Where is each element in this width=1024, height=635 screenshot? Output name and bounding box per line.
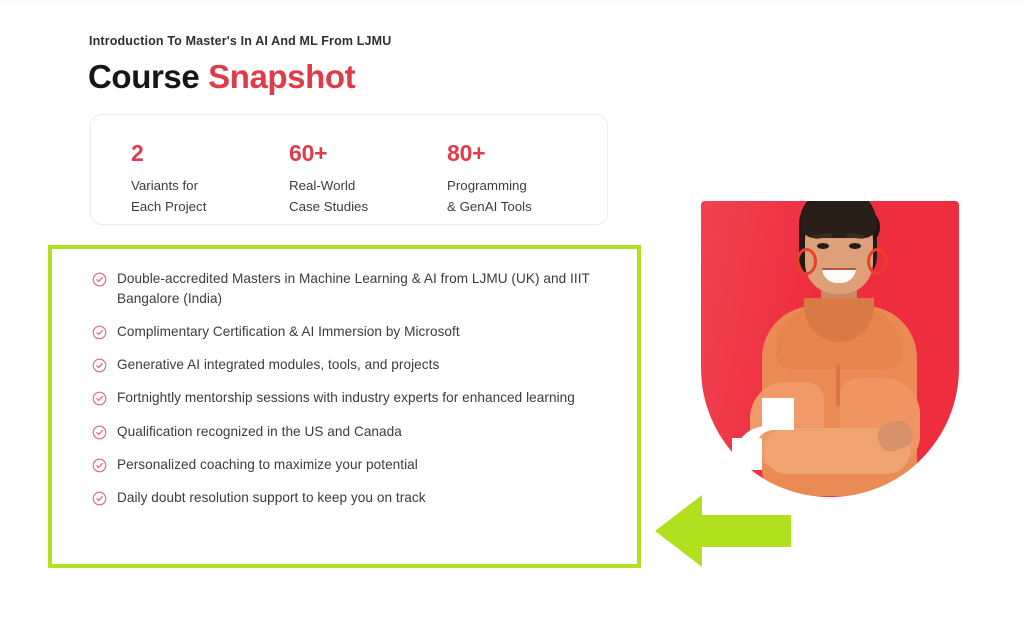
course-snapshot-page: Introduction To Master's In AI And ML Fr… <box>0 0 1024 635</box>
list-item: Fortnightly mentorship sessions with ind… <box>92 388 612 408</box>
stat-item: 2 Variants for Each Project <box>91 141 249 217</box>
list-item-label: Daily doubt resolution support to keep y… <box>117 488 426 508</box>
list-item: Double-accredited Masters in Machine Lea… <box>92 269 612 309</box>
stat-label: Programming & GenAI Tools <box>447 175 597 217</box>
list-item: Qualification recognized in the US and C… <box>92 422 612 442</box>
check-circle-icon <box>92 358 107 373</box>
list-item-label: Fortnightly mentorship sessions with ind… <box>117 388 575 408</box>
check-circle-icon <box>92 425 107 440</box>
list-item-label: Double-accredited Masters in Machine Lea… <box>117 269 612 309</box>
list-item: Generative AI integrated modules, tools,… <box>92 355 612 375</box>
stat-label: Real-World Case Studies <box>289 175 407 217</box>
list-item-label: Generative AI integrated modules, tools,… <box>117 355 439 375</box>
section-eyebrow: Introduction To Master's In AI And ML Fr… <box>89 34 391 48</box>
page-title-accent: Snapshot <box>208 58 355 95</box>
list-item-label: Personalized coaching to maximize your p… <box>117 455 418 475</box>
list-item: Daily doubt resolution support to keep y… <box>92 488 612 508</box>
earring-right <box>867 248 888 275</box>
check-circle-icon <box>92 491 107 506</box>
stat-item: 80+ Programming & GenAI Tools <box>407 141 597 217</box>
eye-right <box>849 243 861 249</box>
page-title-primary: Course <box>88 58 199 95</box>
stat-value: 60+ <box>289 141 407 166</box>
hair-front <box>801 201 877 238</box>
green-left-arrow <box>655 492 791 570</box>
list-item-label: Complimentary Certification & AI Immersi… <box>117 322 460 342</box>
list-item-label: Qualification recognized in the US and C… <box>117 422 402 442</box>
highlights-list: Double-accredited Masters in Machine Lea… <box>92 269 612 508</box>
stat-value: 2 <box>131 141 249 166</box>
page-title: Course Snapshot <box>88 58 355 96</box>
stat-item: 60+ Real-World Case Studies <box>249 141 407 217</box>
stats-card: 2 Variants for Each Project 60+ Real-Wor… <box>90 114 608 225</box>
stat-label: Variants for Each Project <box>131 175 249 217</box>
check-circle-icon <box>92 391 107 406</box>
stat-value: 80+ <box>447 141 597 166</box>
green-highlight-box: Double-accredited Masters in Machine Lea… <box>48 245 641 568</box>
check-circle-icon <box>92 458 107 473</box>
earring-left <box>796 248 817 275</box>
eye-left <box>817 243 829 249</box>
top-edge-band <box>0 0 1024 5</box>
list-item: Personalized coaching to maximize your p… <box>92 455 612 475</box>
list-item: Complimentary Certification & AI Immersi… <box>92 322 612 342</box>
check-circle-icon <box>92 272 107 287</box>
check-circle-icon <box>92 325 107 340</box>
upgrad-arrow-logo <box>732 398 794 470</box>
